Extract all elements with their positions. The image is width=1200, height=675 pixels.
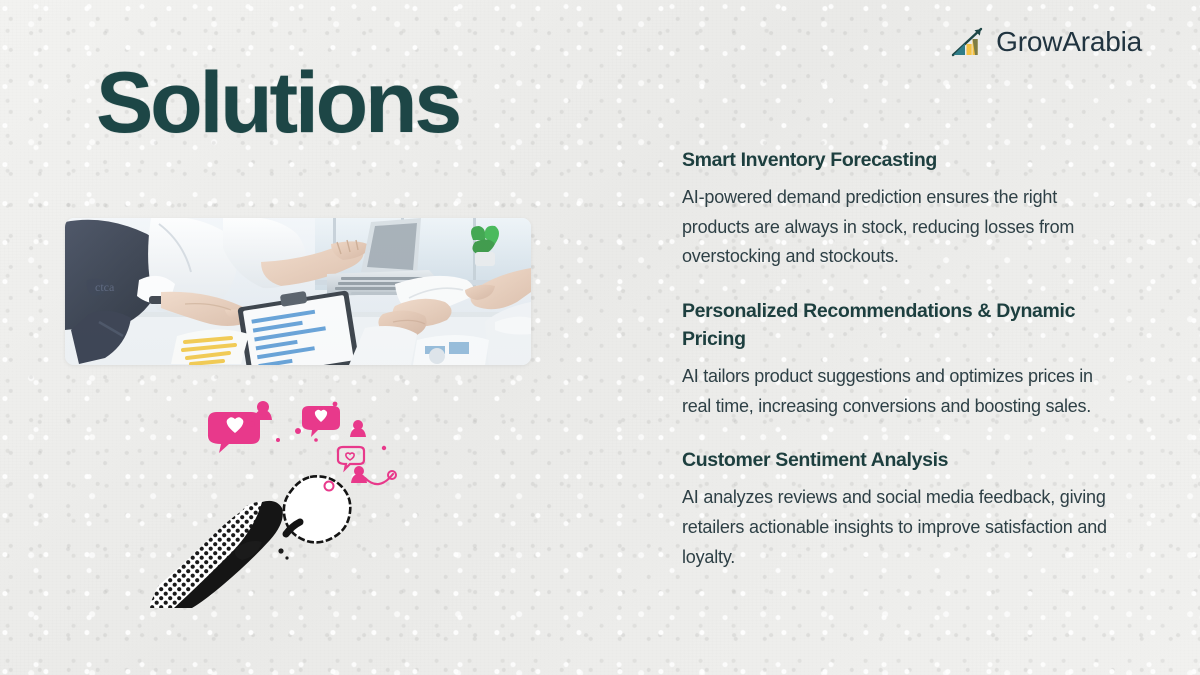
halftone-hand [150, 501, 289, 608]
slide-canvas: GrowArabia Solutions [0, 0, 1200, 675]
solution-heading: Customer Sentiment Analysis [682, 447, 1114, 475]
profile-icon [350, 420, 366, 437]
bar-chart-growth-arrow-icon [951, 27, 985, 57]
dot-icon [276, 438, 280, 442]
dot-icon [314, 438, 318, 442]
dot-icon [295, 428, 301, 434]
dot-icon [333, 402, 338, 407]
solution-body: AI analyzes reviews and social media fee… [682, 483, 1114, 573]
solution-body: AI-powered demand prediction ensures the… [682, 183, 1114, 273]
social-sentiment-collage [150, 398, 430, 608]
solution-item: Smart Inventory Forecasting AI-powered d… [682, 147, 1114, 272]
dot-icon [249, 421, 254, 426]
solution-item: Personalized Recommendations & Dynamic P… [682, 298, 1114, 421]
heart-bubble-outline-icon [338, 447, 364, 469]
heart-like-bubble-icon [208, 412, 260, 453]
dot-icon [382, 446, 386, 450]
brand-name: GrowArabia [996, 26, 1142, 58]
magnifying-glass-icon [284, 476, 350, 542]
solutions-list: Smart Inventory Forecasting AI-powered d… [682, 147, 1114, 573]
profile-icon [351, 466, 367, 483]
brand-logo[interactable]: GrowArabia [951, 26, 1142, 58]
solution-heading: Personalized Recommendations & Dynamic P… [682, 298, 1114, 353]
business-meeting-photo: ctca [65, 218, 531, 365]
solution-body: AI tailors product suggestions and optim… [682, 362, 1114, 422]
solution-item: Customer Sentiment Analysis AI analyzes … [682, 447, 1114, 572]
solution-heading: Smart Inventory Forecasting [682, 147, 1114, 175]
page-title: Solutions [96, 58, 459, 148]
profile-icon [254, 401, 272, 420]
heart-bubble-icon [302, 406, 340, 437]
